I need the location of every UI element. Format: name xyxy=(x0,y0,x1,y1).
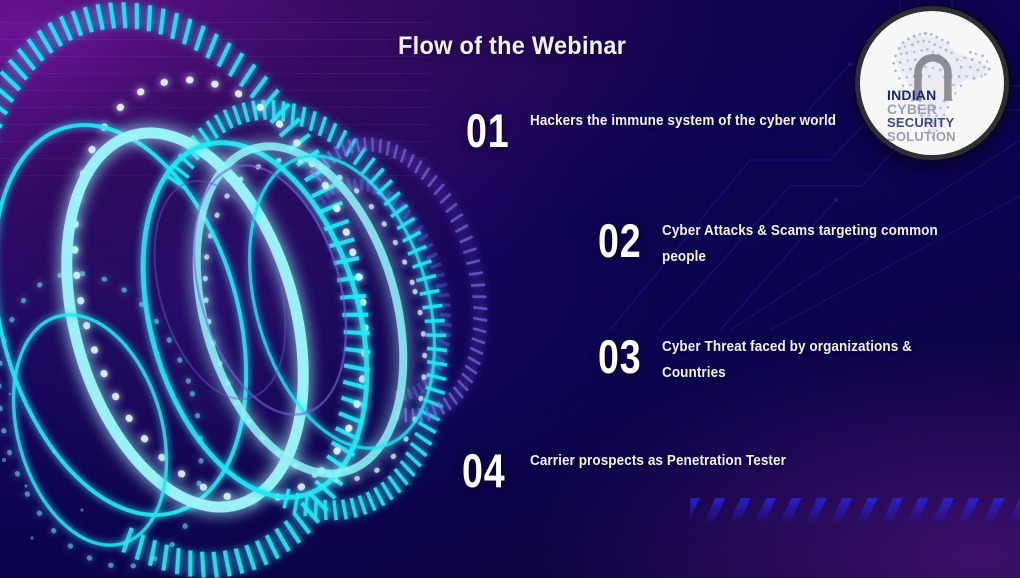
agenda-item-text: Cyber Threat faced by organizations & Co… xyxy=(662,334,960,386)
agenda-item-03: 03 Cyber Threat faced by organizations &… xyxy=(598,334,982,386)
logo-wordmark: INDIAN CYBER SECURITY SOLUTION xyxy=(887,89,987,143)
logo-line-4: SOLUTION xyxy=(887,130,987,144)
page-title: Flow of the Webinar xyxy=(398,32,626,61)
agenda-item-number: 04 xyxy=(462,448,516,494)
logo-line-2: CYBER xyxy=(887,103,987,117)
slide-canvas: Flow of the Webinar 01 Hackers the immun… xyxy=(0,0,1020,578)
agenda-item-04: 04 Carrier prospects as Penetration Test… xyxy=(462,448,860,494)
agenda-item-number: 02 xyxy=(598,218,649,264)
agenda-item-text: Hackers the immune system of the cyber w… xyxy=(530,108,846,134)
organization-logo: INDIAN CYBER SECURITY SOLUTION xyxy=(855,6,1009,160)
agenda-item-01: 01 Hackers the immune system of the cybe… xyxy=(466,108,870,154)
agenda-item-number: 01 xyxy=(466,108,517,154)
agenda-item-text: Cyber Attacks & Scams targeting common p… xyxy=(662,218,983,270)
logo-line-3: SECURITY xyxy=(887,116,987,130)
agenda-item-02: 02 Cyber Attacks & Scams targeting commo… xyxy=(598,218,1007,270)
agenda-item-number: 03 xyxy=(598,334,649,380)
agenda-item-text: Carrier prospects as Penetration Tester xyxy=(530,448,837,474)
scanlines-decoration xyxy=(0,22,430,192)
diagonal-stripe-decoration xyxy=(690,498,1020,524)
cyber-tunnel-artwork xyxy=(0,0,490,578)
